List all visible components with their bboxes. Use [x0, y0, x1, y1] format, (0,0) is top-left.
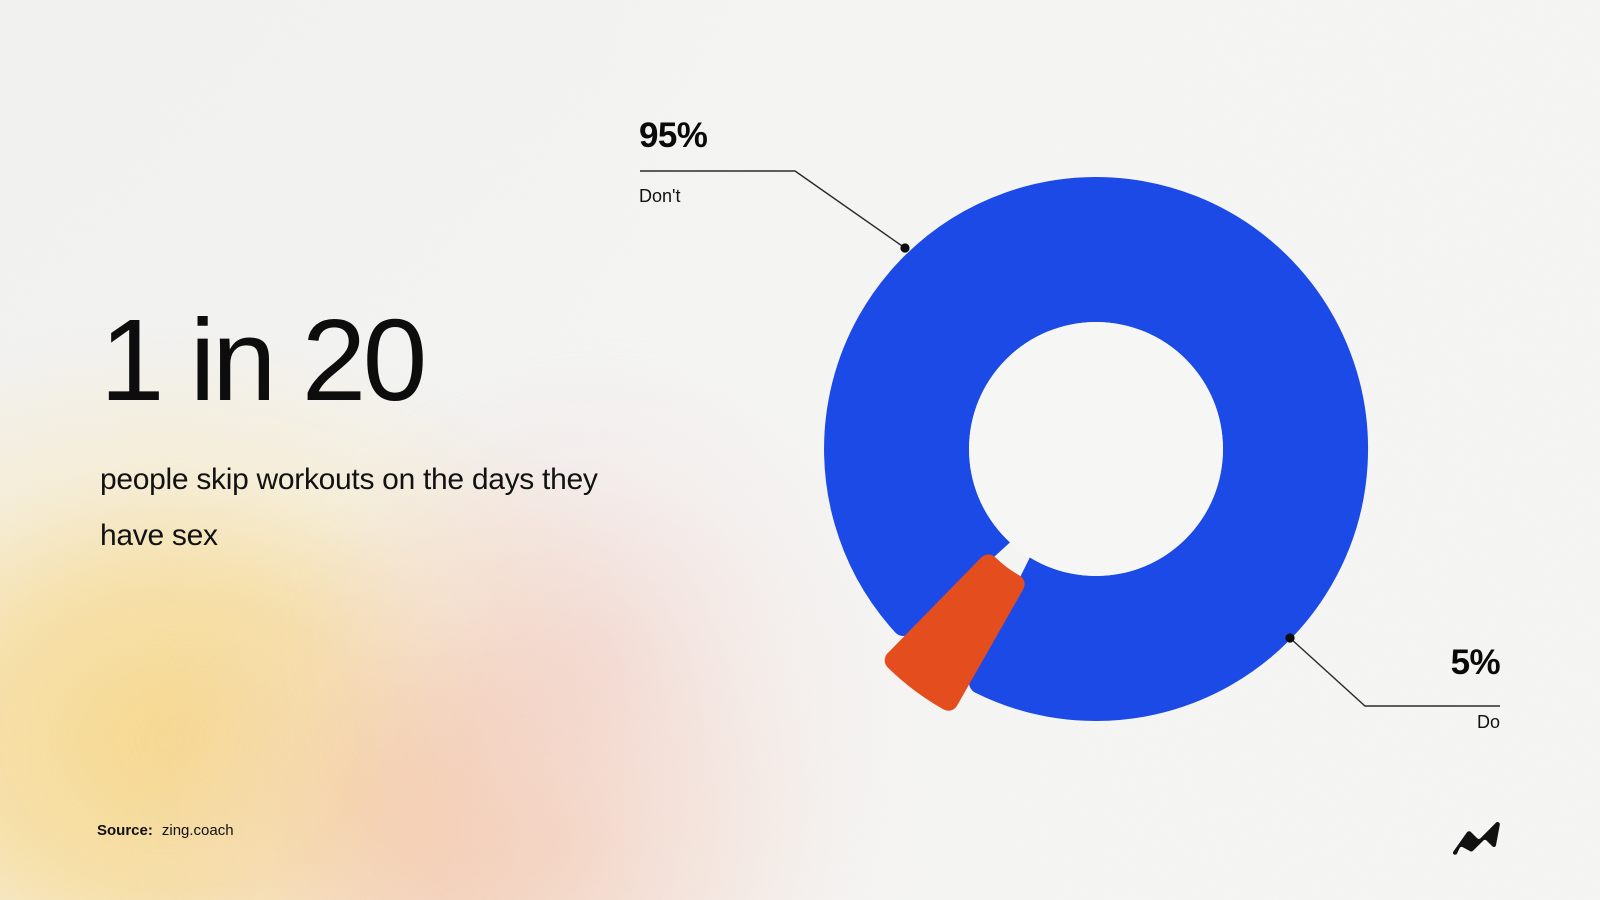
callout-dont-category: Don't — [639, 187, 707, 205]
infographic-canvas: 1 in 20 people skip workouts on the days… — [0, 0, 1600, 900]
source-attribution: Source:zing.coach — [97, 822, 234, 839]
subtitle: people skip workouts on the days they ha… — [100, 452, 620, 564]
page-title: 1 in 20 — [100, 302, 424, 418]
donut-hole-edge — [969, 322, 1223, 576]
callout-do: 5% Do — [1330, 645, 1500, 731]
callout-dont: 95% Don't — [639, 118, 707, 205]
source-label: Source: — [97, 822, 153, 839]
source-value[interactable]: zing.coach — [162, 822, 234, 839]
lightning-bolt-icon — [1453, 822, 1500, 855]
callout-do-percent: 5% — [1330, 645, 1500, 680]
lightning-bolt-logo — [1450, 812, 1506, 858]
callout-do-category: Do — [1330, 713, 1500, 731]
callout-dont-percent: 95% — [639, 118, 707, 153]
